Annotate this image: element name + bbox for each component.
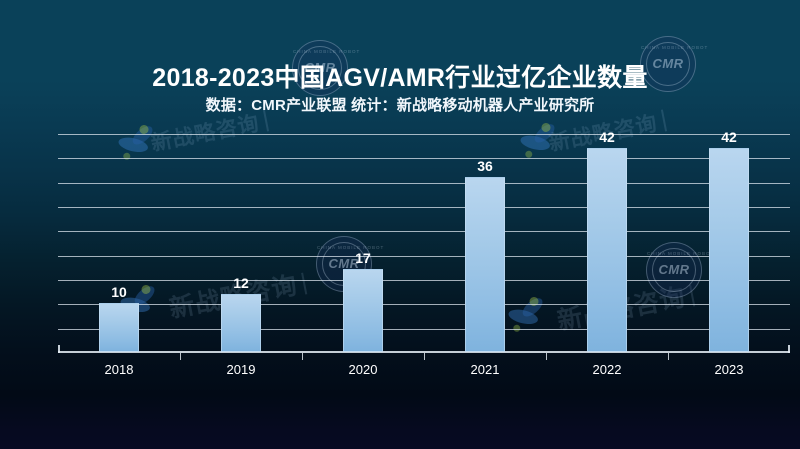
x-axis-tick	[302, 353, 303, 360]
x-axis-tick	[668, 353, 669, 360]
x-axis-label-2020: 2020	[323, 362, 403, 377]
x-axis-cap-left	[58, 345, 60, 353]
chart-subtitle: 数据：CMR产业联盟 统计：新战略移动机器人产业研究所	[0, 94, 800, 115]
x-axis-label-2021: 2021	[445, 362, 525, 377]
bar-value-label-2019: 12	[211, 275, 271, 291]
x-axis-label-2019: 2019	[201, 362, 281, 377]
gridline	[58, 329, 790, 330]
gridline	[58, 304, 790, 305]
gridline	[58, 158, 790, 159]
plot-area: 0510152025303540451020181220191720203620…	[58, 134, 790, 353]
seal-arc-text: CHINA MOBILE ROBOT	[293, 49, 347, 54]
bar-value-label-2021: 36	[455, 158, 515, 174]
bar-value-label-2023: 42	[699, 129, 759, 145]
x-axis-tick	[180, 353, 181, 360]
x-axis-cap-right	[788, 345, 790, 353]
bar-2020	[343, 269, 383, 352]
x-axis-tick	[424, 353, 425, 360]
gridline	[58, 280, 790, 281]
bar-2019	[221, 294, 261, 352]
seal-arc-text: CHINA MOBILE ROBOT	[641, 45, 695, 50]
bar-2021	[465, 177, 505, 352]
gridline	[58, 183, 790, 184]
bar-2023	[709, 148, 749, 352]
chart-title: 2018-2023中国AGV/AMR行业过亿企业数量	[0, 58, 800, 94]
gridline	[58, 134, 790, 135]
gridline	[58, 207, 790, 208]
x-axis-label-2022: 2022	[567, 362, 647, 377]
chart-image: 新战略咨询 新战略咨询 新战略咨询 新战略咨询 CHINA MOBILE ROB…	[0, 0, 800, 449]
bar-2022	[587, 148, 627, 352]
x-axis-label-2018: 2018	[79, 362, 159, 377]
bar-2018	[99, 303, 139, 352]
bar-value-label-2022: 42	[577, 129, 637, 145]
bar-value-label-2020: 17	[333, 250, 393, 266]
gridline	[58, 256, 790, 257]
x-axis-label-2023: 2023	[689, 362, 769, 377]
bar-value-label-2018: 10	[89, 284, 149, 300]
gridline	[58, 231, 790, 232]
x-axis-tick	[546, 353, 547, 360]
